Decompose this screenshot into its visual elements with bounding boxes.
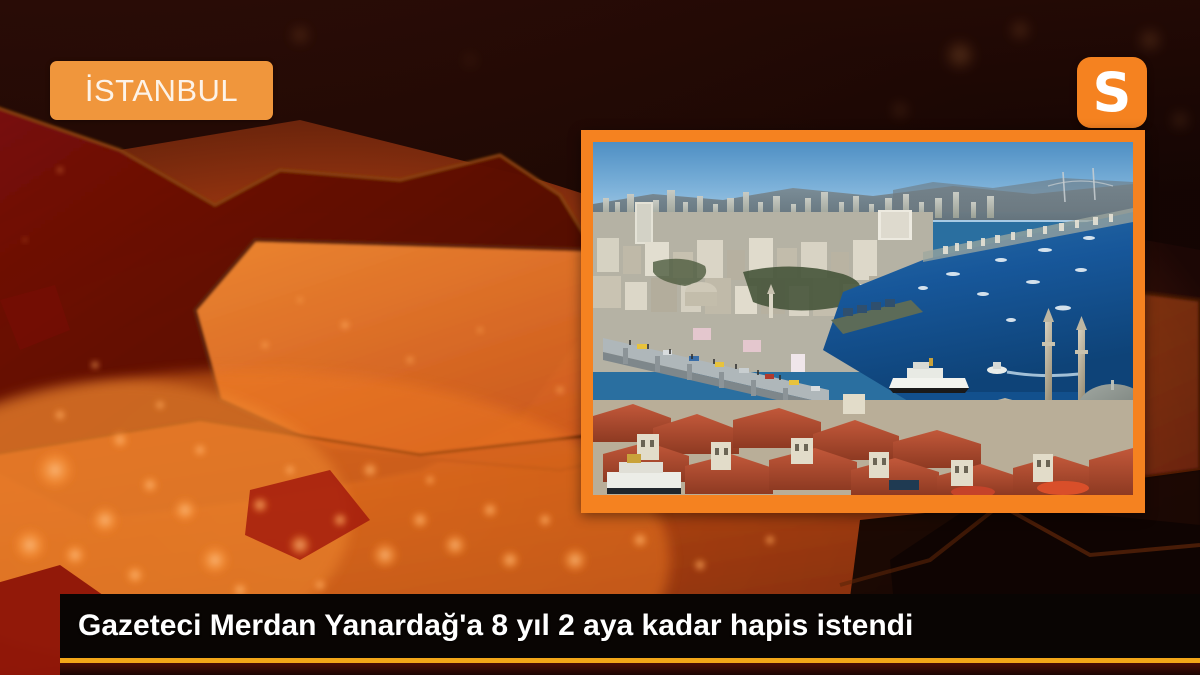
brand-logo[interactable]: S bbox=[1077, 57, 1147, 128]
headline-bottom-shadow bbox=[60, 663, 1200, 675]
headline-bar: Gazeteci Merdan Yanardağ'a 8 yıl 2 aya k… bbox=[60, 594, 1200, 658]
city-badge-label: İSTANBUL bbox=[85, 75, 238, 106]
photo-illustration bbox=[593, 142, 1133, 495]
brand-logo-letter-icon: S bbox=[1093, 66, 1132, 120]
city-badge: İSTANBUL bbox=[50, 61, 273, 120]
headline-title: Gazeteci Merdan Yanardağ'a 8 yıl 2 aya k… bbox=[60, 611, 913, 641]
photo-frame bbox=[581, 130, 1145, 513]
photo-istanbul-cityscape bbox=[593, 142, 1133, 495]
article-card: İSTANBUL S bbox=[0, 0, 1200, 675]
